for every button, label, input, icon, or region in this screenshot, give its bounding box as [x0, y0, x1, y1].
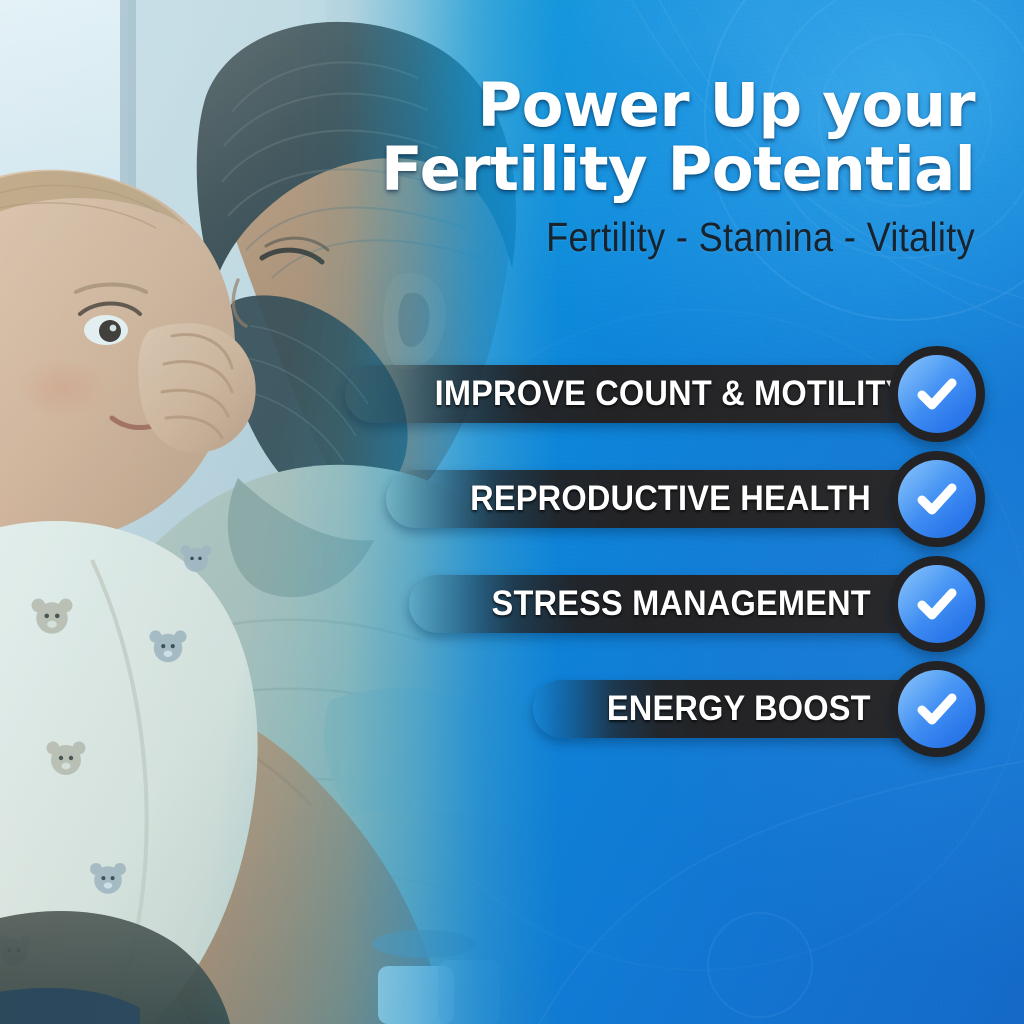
feature-benefit-list: IMPROVE COUNT & MOTILITY REPRODUCTIVE HE…: [345, 341, 985, 761]
feature-pill: ENERGY BOOST: [533, 680, 933, 738]
headline-line-2: Fertility Potential: [335, 140, 975, 200]
check-icon: [889, 661, 985, 757]
check-icon: [889, 451, 985, 547]
feature-label: REPRODUCTIVE HEALTH: [470, 481, 871, 516]
subheadline: Fertility - Stamina - Vitality: [412, 217, 975, 258]
feature-item: ENERGY BOOST: [345, 656, 985, 761]
check-icon-circle: [898, 670, 976, 748]
feature-item: IMPROVE COUNT & MOTILITY: [345, 341, 985, 446]
fertility-supplement-ad: Power Up your Fertility Potential Fertil…: [0, 0, 1024, 1024]
headline-line-1: Power Up your: [335, 76, 975, 136]
feature-item: REPRODUCTIVE HEALTH: [345, 446, 985, 551]
feature-label: IMPROVE COUNT & MOTILITY: [435, 376, 908, 411]
feature-pill: IMPROVE COUNT & MOTILITY: [345, 365, 933, 423]
feature-item: STRESS MANAGEMENT: [345, 551, 985, 656]
check-icon-circle: [898, 355, 976, 433]
check-icon-circle: [898, 565, 976, 643]
check-icon: [889, 556, 985, 652]
feature-label: STRESS MANAGEMENT: [492, 586, 871, 621]
feature-pill: REPRODUCTIVE HEALTH: [386, 470, 933, 528]
check-icon-circle: [898, 460, 976, 538]
headline-block: Power Up your Fertility Potential Fertil…: [335, 76, 975, 258]
feature-label: ENERGY BOOST: [607, 691, 871, 726]
check-icon: [889, 346, 985, 442]
feature-pill: STRESS MANAGEMENT: [409, 575, 933, 633]
